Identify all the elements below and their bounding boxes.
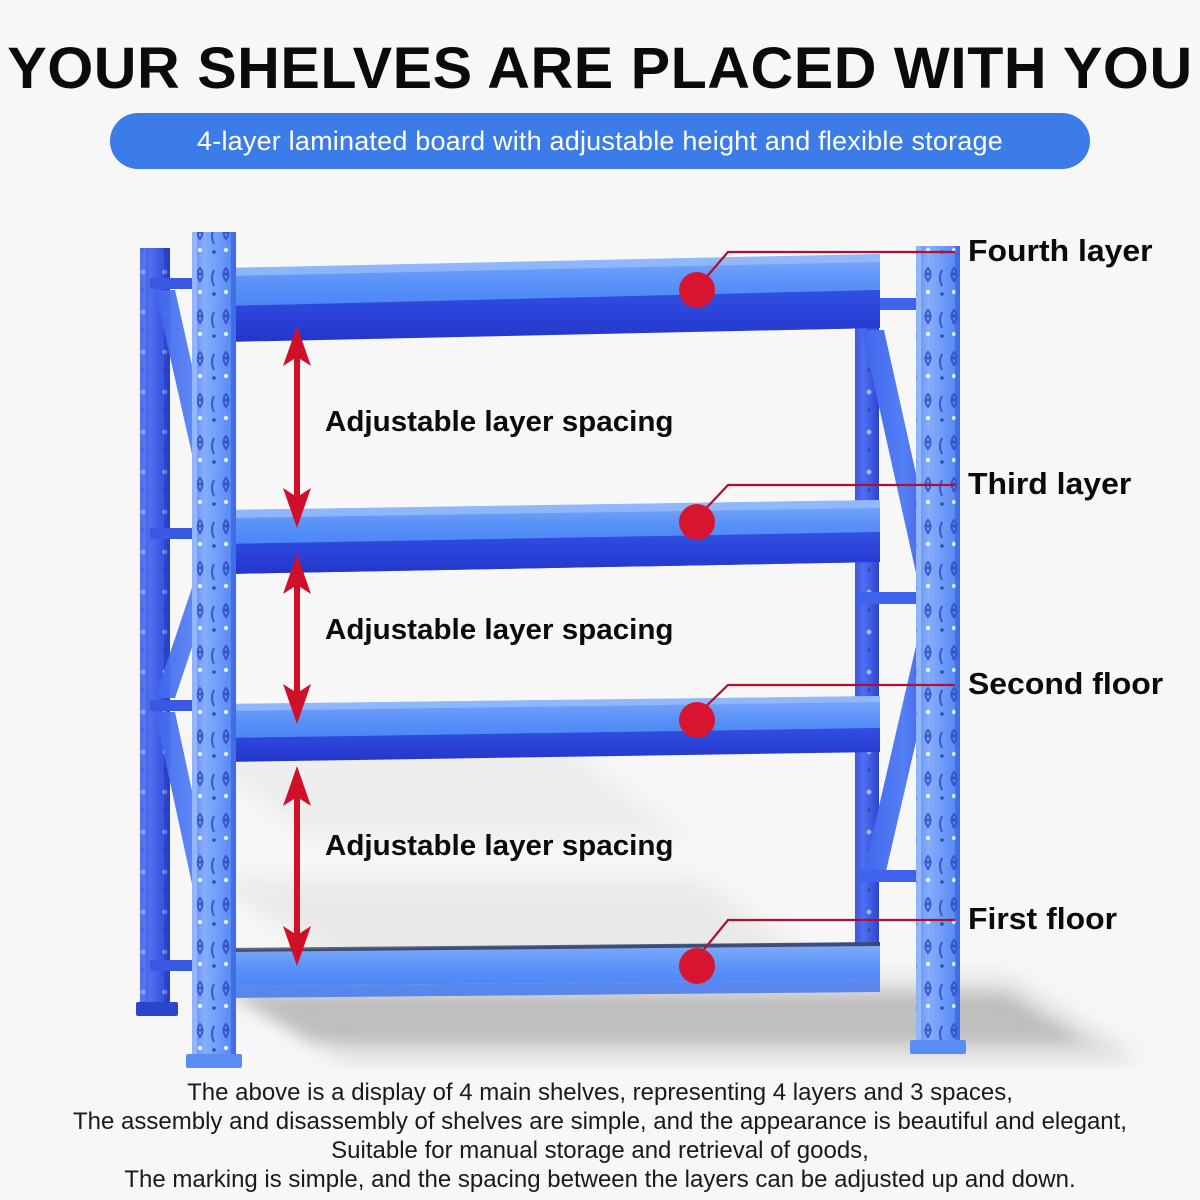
spacing-label-middle: Adjustable layer spacing (325, 614, 674, 647)
spacing-arrow-top (283, 326, 311, 528)
subtitle-banner: 4-layer laminated board with adjustable … (110, 113, 1090, 169)
callout-dot-fourth-layer (679, 272, 715, 308)
spacing-label-bottom: Adjustable layer spacing (325, 830, 674, 863)
beam-layer-2 (225, 696, 880, 762)
spacing-label-top: Adjustable layer spacing (325, 406, 674, 439)
spacing-arrow-middle (283, 554, 311, 724)
footer-description: The above is a display of 4 main shelves… (0, 1078, 1200, 1194)
callout-dot-third-layer (679, 504, 715, 540)
product-illustration: Fourth layer Third layer Second floor Fi… (0, 180, 1200, 1070)
footer-line: The assembly and disassembly of shelves … (0, 1107, 1200, 1136)
front-left-upright (186, 232, 242, 1068)
footer-line: The marking is simple, and the spacing b… (0, 1165, 1200, 1194)
infographic-canvas: YOUR SHELVES ARE PLACED WITH YOU 4-layer… (0, 0, 1200, 1200)
callout-label-second-floor: Second floor (968, 666, 1163, 702)
callout-dot-first-floor (679, 948, 715, 984)
callout-dot-second-floor (679, 702, 715, 738)
beam-layer-3 (225, 500, 880, 574)
spacing-arrow-bottom (283, 766, 311, 966)
footer-line: The above is a display of 4 main shelves… (0, 1078, 1200, 1107)
beam-layer-4 (225, 254, 880, 342)
footer-line: Suitable for manual storage and retrieva… (0, 1136, 1200, 1165)
callout-label-first-floor: First floor (968, 901, 1117, 937)
callout-label-third-layer: Third layer (968, 466, 1131, 502)
beam-layer-1 (225, 942, 880, 998)
subtitle-text: 4-layer laminated board with adjustable … (197, 126, 1003, 157)
callout-label-fourth-layer: Fourth layer (968, 233, 1153, 269)
page-title: YOUR SHELVES ARE PLACED WITH YOU (0, 38, 1200, 100)
front-right-upright (910, 246, 966, 1054)
